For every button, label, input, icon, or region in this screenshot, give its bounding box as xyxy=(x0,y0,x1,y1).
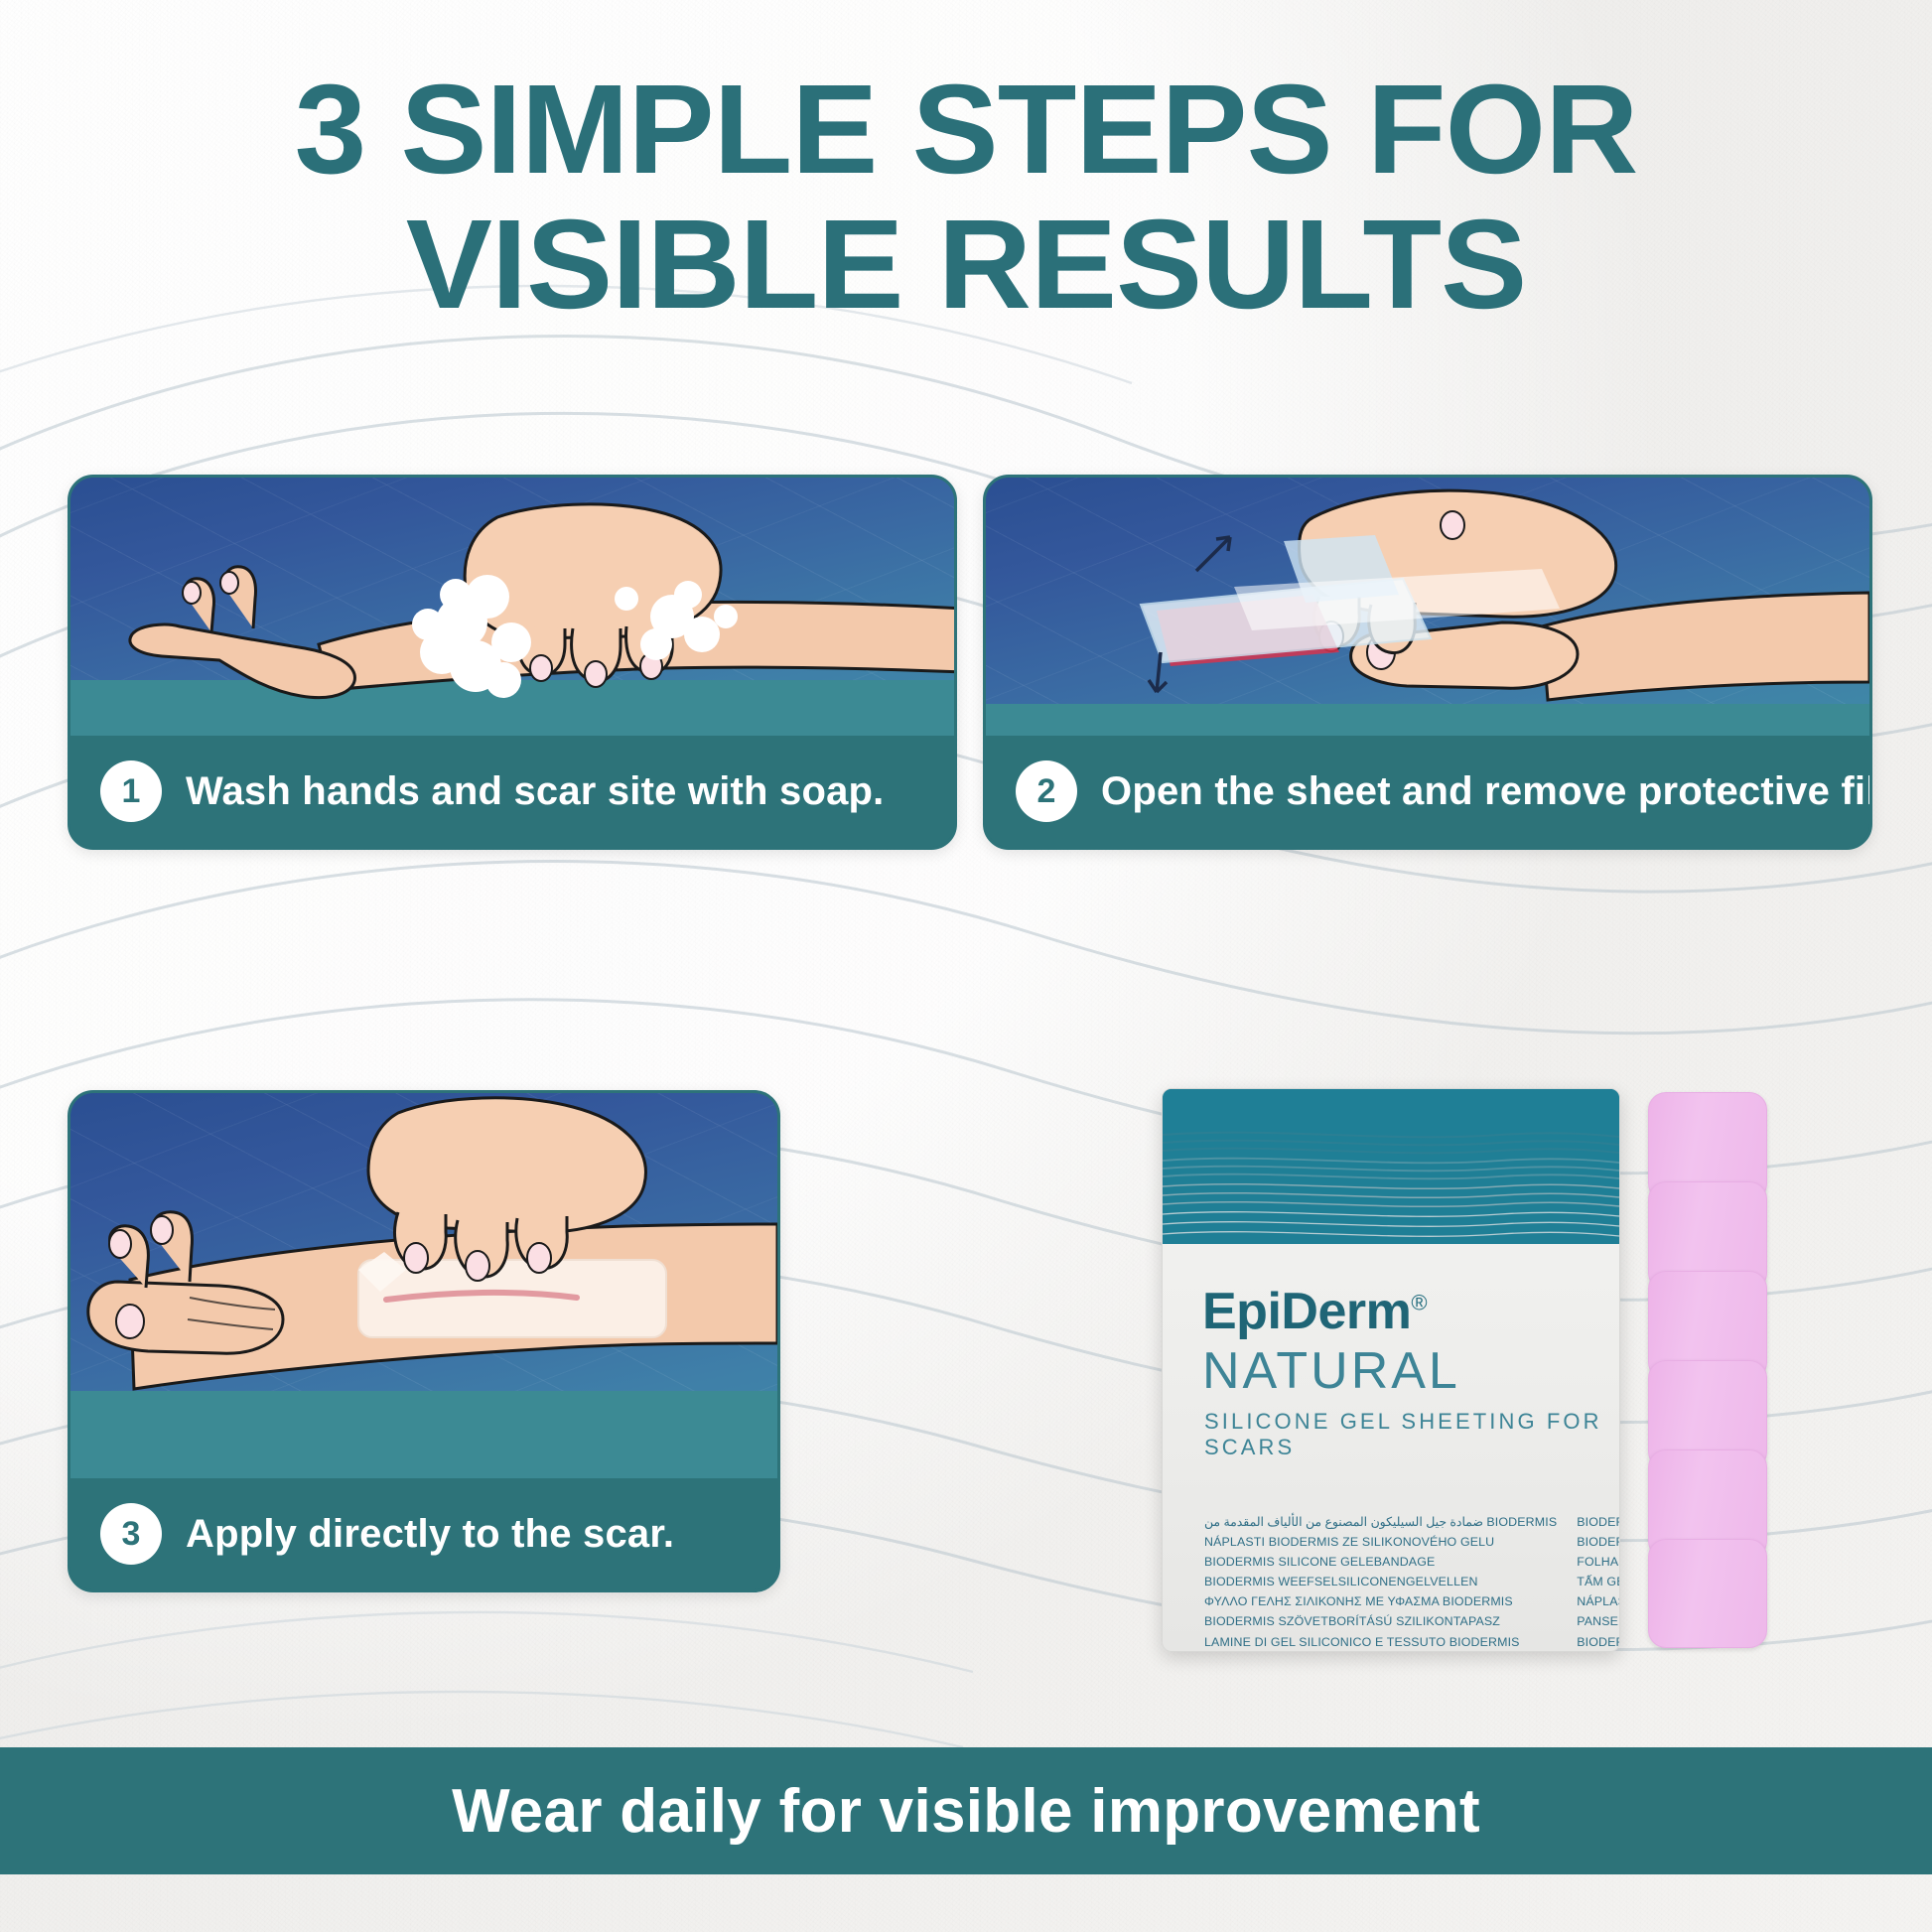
step-3-number: 3 xyxy=(100,1503,162,1565)
lang-line: FOLHAS DE GEL DE SILICONE BIODERMIS xyxy=(1577,1552,1620,1572)
lang-line: BIODERMIS SILICONE GELEBANDAGE xyxy=(1204,1552,1557,1572)
peeling-film-icon xyxy=(986,478,1869,736)
lang-line: PANSEMENT EN GEL DE SILICONE BIODERMIS xyxy=(1577,1611,1620,1631)
step-1-caption-text: Wash hands and scar site with soap. xyxy=(186,769,884,814)
step-card-2[interactable]: 2 Open the sheet and remove protective f… xyxy=(983,475,1872,850)
step-1-number: 1 xyxy=(100,760,162,822)
multilingual-block: ضمادة جيل السيليكون المصنوع من الألياف ا… xyxy=(1204,1512,1619,1652)
lang-line: TẤM GEL SILICONE VẢI BIODERMIS xyxy=(1577,1572,1620,1591)
step-3-illustration xyxy=(70,1093,777,1478)
footer-banner: Wear daily for visible improvement xyxy=(0,1747,1932,1874)
lang-line: BIODERMIS SZÖVETBORÍTÁSÚ SZILIKONTAPASZ xyxy=(1204,1611,1557,1631)
pink-gel-sheets-stack[interactable] xyxy=(1648,1092,1767,1648)
brand-name: EpiDerm xyxy=(1202,1283,1411,1340)
step-2-illustration xyxy=(986,478,1869,736)
step-card-1[interactable]: 1 Wash hands and scar site with soap. xyxy=(68,475,957,850)
page-title: 3 SIMPLE STEPS FOR VISIBLE RESULTS xyxy=(0,69,1932,325)
step-2-caption-text: Open the sheet and remove protective fil… xyxy=(1101,769,1872,814)
step-3-caption-text: Apply directly to the scar. xyxy=(186,1512,674,1557)
step-2-caption-bar: 2 Open the sheet and remove protective f… xyxy=(986,736,1869,847)
package-subtitle: SILICONE GEL SHEETING FOR SCARS xyxy=(1204,1409,1619,1460)
gel-sheet[interactable] xyxy=(1648,1539,1767,1648)
product-line: NATURAL xyxy=(1202,1342,1460,1400)
lang-line: ΦΥΛΛΟ ΓΕΛΗΣ ΣΙΛΙΚΟΝΗΣ ΜΕ ΥΦΑΣΜΑ BIODERMI… xyxy=(1204,1591,1557,1611)
step-2-number: 2 xyxy=(1016,760,1077,822)
lang-line: BIODERMIS KUMAŞ SİLİKON JEL TABAKA xyxy=(1577,1532,1620,1552)
title-line-1: 3 SIMPLE STEPS FOR xyxy=(0,69,1932,191)
hands-washing-soap-icon xyxy=(70,478,954,736)
package-header-stripe xyxy=(1163,1089,1619,1244)
infographic-canvas: 3 SIMPLE STEPS FOR VISIBLE RESULTS xyxy=(0,0,1932,1932)
languages-left-column: ضمادة جيل السيليكون المصنوع من الألياف ا… xyxy=(1204,1512,1557,1652)
title-line-2: VISIBLE RESULTS xyxy=(0,205,1932,326)
lang-line: BIODERMIS WEEFSELSILICONENGELVELLEN xyxy=(1204,1572,1557,1591)
package-brand-title: EpiDerm® NATURAL xyxy=(1202,1282,1619,1401)
footer-banner-text: Wear daily for visible improvement xyxy=(452,1776,1480,1847)
lang-line: NÁPLASTE BIODERMIS ZO SILIKÓNOVÉHO GÉLU xyxy=(1577,1591,1620,1611)
lang-line: BIODERMIS SILIKONGELVÄV xyxy=(1577,1512,1620,1532)
product-package[interactable]: EpiDerm® NATURAL SILICONE GEL SHEETING F… xyxy=(1162,1088,1620,1652)
lang-line: NÁPLASTI BIODERMIS ZE SILIKONOVÉHO GELU xyxy=(1204,1532,1557,1552)
step-1-caption-bar: 1 Wash hands and scar site with soap. xyxy=(70,736,954,847)
apply-sheet-to-scar-icon xyxy=(70,1093,777,1478)
step-1-illustration xyxy=(70,478,954,736)
lang-line: LAMINE DI GEL SILICONICO E TESSUTO BIODE… xyxy=(1204,1632,1557,1652)
step-card-3[interactable]: 3 Apply directly to the scar. xyxy=(68,1090,780,1592)
wavy-stripes xyxy=(1163,1089,1619,1244)
languages-right-column: BIODERMIS SILIKONGELVÄV BIODERMIS KUMAŞ … xyxy=(1577,1512,1620,1652)
registered-mark: ® xyxy=(1411,1291,1427,1315)
lang-line: BIODERMIS-SILIKONGELFOLIE xyxy=(1577,1632,1620,1652)
lang-line: ضمادة جيل السيليكون المصنوع من الألياف ا… xyxy=(1204,1512,1557,1532)
step-3-caption-bar: 3 Apply directly to the scar. xyxy=(70,1478,777,1589)
